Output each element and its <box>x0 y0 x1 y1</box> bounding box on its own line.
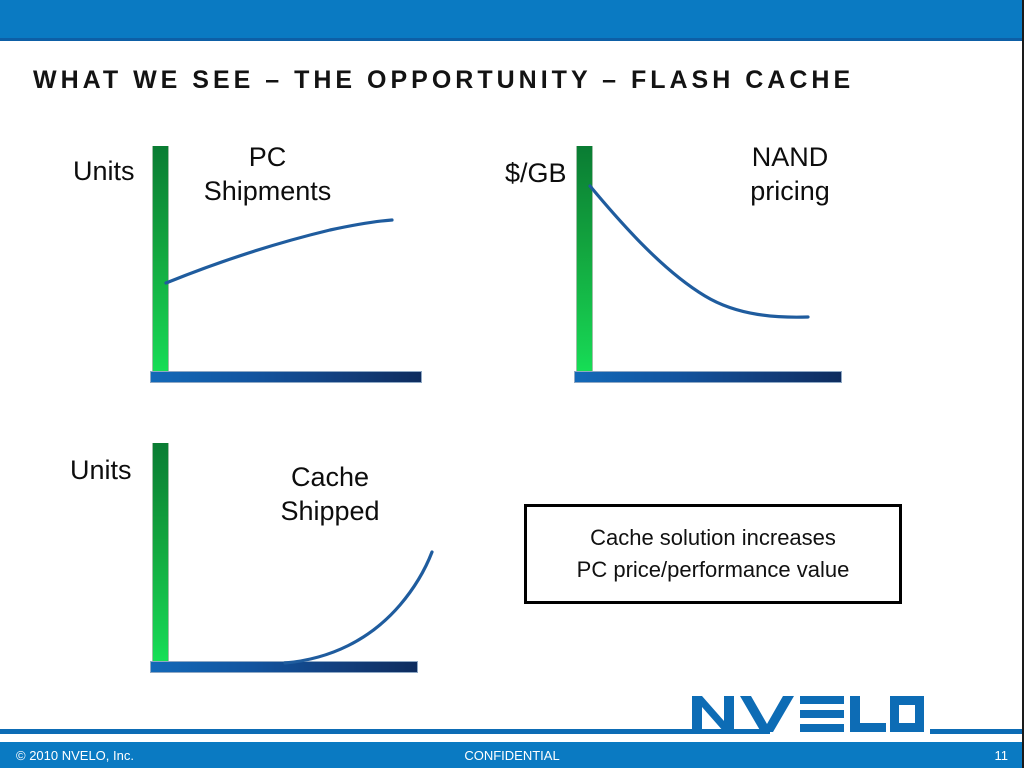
chart-nand-pricing: $/GB NAND pricing <box>460 0 1024 400</box>
chart-cache-shipped: Units Cache Shipped <box>0 400 460 700</box>
callout-box: Cache solution increases PC price/perfor… <box>524 504 902 604</box>
footer-rule-right <box>930 729 1024 734</box>
callout-line-1: Cache solution increases <box>590 527 836 549</box>
chart-nand-pricing-curve <box>460 0 1024 400</box>
footer-rule-left <box>0 729 770 734</box>
chart-cache-shipped-curve <box>0 400 460 700</box>
chart-pc-shipments-curve <box>0 0 460 400</box>
slide-canvas: WHAT WE SEE – THE OPPORTUNITY – FLASH CA… <box>0 0 1024 768</box>
chart-pc-shipments: Units PC Shipments <box>0 0 460 400</box>
callout-line-2: PC price/performance value <box>577 559 850 581</box>
footer-page-number: 11 <box>0 748 1008 763</box>
